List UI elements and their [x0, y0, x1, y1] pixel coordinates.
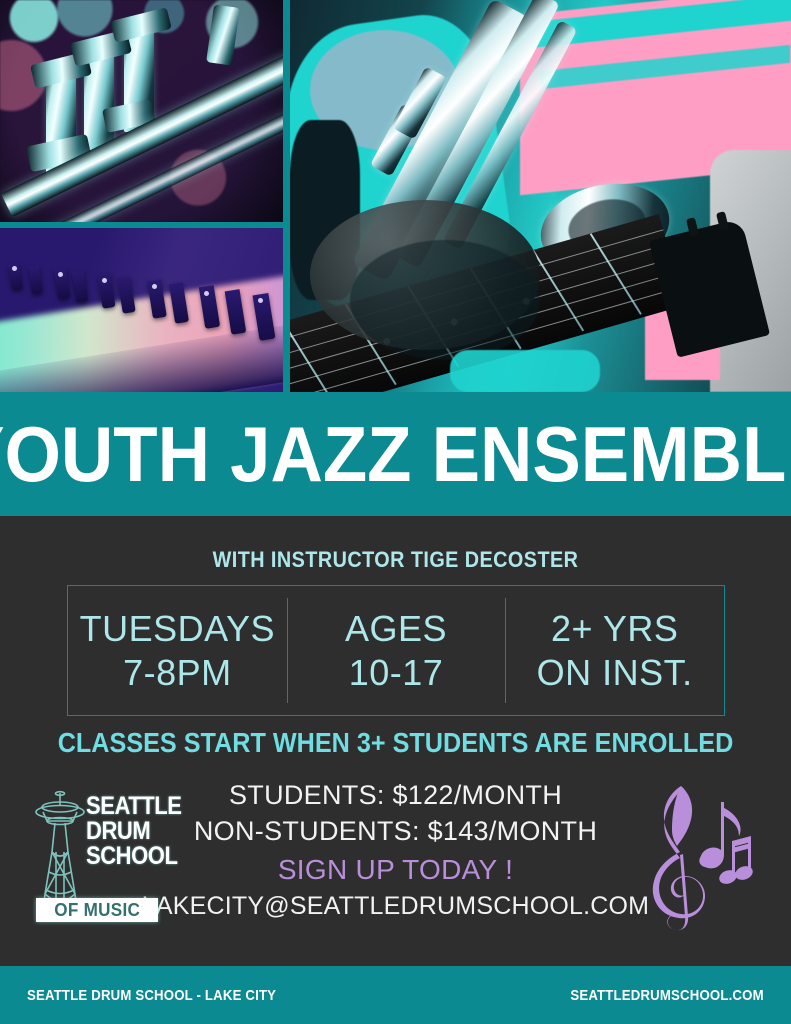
key-highlight: [12, 266, 17, 271]
key-highlight: [152, 284, 157, 289]
trumpet-player-with-guitar-photo: [290, 0, 791, 392]
page-title: YOUTH JAZZ ENSEMBLE: [0, 415, 791, 493]
class-info-box: TUESDAYS 7-8PM AGES 10-17 2+ YRS ON INST…: [67, 585, 725, 716]
instructor-line: WITH INSTRUCTOR TIGE DECOSTER: [40, 547, 752, 573]
trumpet-valves-closeup-photo: [0, 0, 283, 222]
treble-clef-and-music-notes-icon: [636, 784, 756, 932]
cyan-foreground: [450, 350, 600, 392]
key-highlight: [58, 272, 63, 277]
info-column-ages: AGES 10-17: [287, 586, 506, 715]
info-column-experience: 2+ YRS ON INST.: [505, 586, 724, 715]
key-highlight: [204, 291, 209, 296]
key-highlight: [102, 278, 107, 283]
info-ages-label: AGES: [345, 607, 447, 651]
drum-head: [350, 240, 540, 360]
logo-word-drum: DRUM: [86, 819, 153, 844]
enrollment-note: CLASSES START WHEN 3+ STUDENTS ARE ENROL…: [40, 727, 752, 759]
footer-bar: SEATTLE DRUM SCHOOL - LAKE CITY SEATTLED…: [0, 966, 791, 1024]
key-highlight: [258, 298, 263, 303]
info-ages-range: 10-17: [349, 651, 444, 695]
seattle-drum-school-logo: SEATTLE DRUM SCHOOL OF MUSIC: [34, 788, 162, 928]
logo-word-seattle: SEATTLE: [86, 794, 153, 819]
info-instrument: ON INST.: [537, 651, 693, 695]
footer-location: SEATTLE DRUM SCHOOL - LAKE CITY: [27, 987, 276, 1004]
info-years: 2+ YRS: [551, 607, 678, 651]
logo-wordmark: SEATTLE DRUM SCHOOL: [86, 794, 162, 868]
photo-collage: [0, 0, 791, 392]
poster-body: WITH INSTRUCTOR TIGE DECOSTER TUESDAYS 7…: [0, 516, 791, 966]
logo-tagline: OF MUSIC: [54, 900, 140, 921]
info-time: 7-8PM: [123, 651, 232, 695]
logo-word-school: SCHOOL: [86, 844, 153, 869]
info-column-day-time: TUESDAYS 7-8PM: [68, 586, 287, 715]
footer-website[interactable]: SEATTLEDRUMSCHOOL.COM: [571, 987, 764, 1004]
flyer-poster: YOUTH JAZZ ENSEMBLE WITH INSTRUCTOR TIGE…: [0, 0, 791, 1024]
title-banner: YOUTH JAZZ ENSEMBLE: [0, 392, 791, 516]
logo-tagline-box: OF MUSIC: [36, 898, 158, 922]
piano-keys-photo: [0, 228, 283, 392]
info-day: TUESDAYS: [80, 607, 275, 651]
